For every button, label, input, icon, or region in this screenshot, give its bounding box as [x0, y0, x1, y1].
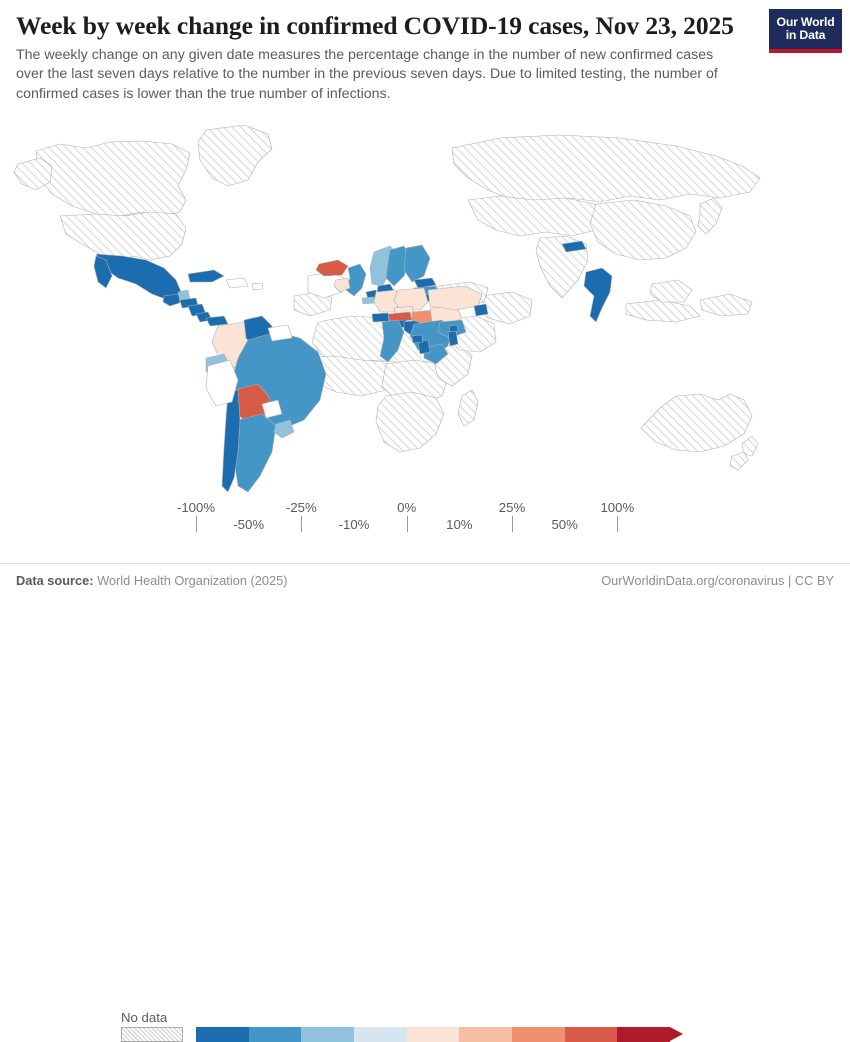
region-canada[interactable] — [36, 141, 190, 216]
legend-segment-3[interactable] — [354, 1027, 407, 1042]
region-central-asia[interactable] — [468, 196, 606, 236]
data-source-label: Data source: — [16, 573, 94, 588]
region-united-kingdom[interactable] — [346, 264, 366, 296]
region-puerto-rico[interactable] — [252, 283, 263, 290]
legend-segment-5[interactable] — [459, 1027, 512, 1042]
region-china[interactable] — [590, 200, 696, 260]
our-world-in-data-logo[interactable]: Our World in Data — [769, 9, 842, 53]
legend-tick-label-7: 50% — [551, 517, 577, 532]
legend-tick-label-1: -50% — [233, 517, 264, 532]
region-new-guinea[interactable] — [700, 294, 752, 316]
data-source-text: Data source: World Health Organization (… — [16, 573, 287, 588]
logo-line-2: in Data — [786, 29, 826, 42]
legend-tick-label-4: 0% — [397, 500, 416, 515]
map-color-legend[interactable]: No data -100%-50%-25%-10%0%10%25%50%100% — [0, 495, 850, 555]
legend-segment-6[interactable] — [512, 1027, 565, 1042]
logo-line-1: Our World — [776, 16, 834, 29]
legend-no-data-label: No data — [121, 1010, 167, 1025]
legend-tick-label-0: -100% — [177, 500, 215, 515]
region-israel[interactable] — [448, 331, 458, 346]
legend-no-data-swatch[interactable] — [121, 1027, 183, 1042]
legend-tick-label-6: 25% — [499, 500, 525, 515]
region-guyana-suriname[interactable] — [268, 325, 292, 341]
data-source-value: World Health Organization (2025) — [94, 573, 288, 588]
region-new-zealand-south[interactable] — [730, 452, 748, 470]
legend-segment-0[interactable] — [196, 1027, 249, 1042]
legend-tick-label-3: -10% — [339, 517, 370, 532]
legend-tick-label-2: -25% — [286, 500, 317, 515]
chart-subtitle: The weekly change on any given date meas… — [16, 46, 741, 104]
region-russia[interactable] — [452, 135, 760, 204]
legend-color-bar[interactable] — [196, 1027, 670, 1042]
footer-link[interactable]: OurWorldinData.org/coronavirus | CC BY — [601, 573, 834, 588]
legend-segment-1[interactable] — [249, 1027, 302, 1042]
chart-footer: Data source: World Health Organization (… — [0, 563, 850, 594]
region-borneo[interactable] — [650, 280, 692, 302]
legend-arrow-icon — [670, 1027, 683, 1041]
legend-segment-4[interactable] — [407, 1027, 460, 1042]
page-title: Week by week change in confirmed COVID-1… — [16, 11, 736, 40]
region-switzerland[interactable] — [372, 313, 389, 322]
region-finland[interactable] — [404, 245, 430, 282]
region-indonesia[interactable] — [626, 300, 700, 322]
legend-segment-2[interactable] — [301, 1027, 354, 1042]
region-madagascar[interactable] — [458, 390, 478, 426]
legend-tick-label-5: 10% — [446, 517, 472, 532]
legend-segment-7[interactable] — [565, 1027, 618, 1042]
legend-tick-line-8 — [617, 516, 618, 532]
region-japan[interactable] — [698, 198, 722, 234]
legend-segment-8[interactable] — [617, 1027, 670, 1042]
region-united-states[interactable] — [60, 212, 186, 260]
region-thailand[interactable] — [584, 268, 612, 322]
region-southern-africa[interactable] — [376, 392, 444, 452]
legend-tick-label-8: 100% — [600, 500, 634, 515]
region-australia[interactable] — [641, 394, 752, 452]
legend-tick-line-6 — [512, 516, 513, 532]
region-armenia[interactable] — [474, 304, 488, 316]
region-iceland[interactable] — [316, 260, 348, 276]
legend-tick-line-0 — [196, 516, 197, 532]
region-lebanon[interactable] — [449, 325, 458, 332]
region-greenland[interactable] — [198, 125, 272, 186]
region-panama[interactable] — [206, 316, 228, 326]
world-choropleth-map[interactable] — [0, 108, 850, 493]
legend-tick-line-2 — [301, 516, 302, 532]
legend-tick-line-4 — [407, 516, 408, 532]
region-belgium[interactable] — [362, 297, 375, 304]
region-montenegro[interactable] — [412, 335, 423, 343]
region-hispaniola[interactable] — [226, 278, 248, 288]
world-map-svg[interactable] — [0, 108, 850, 493]
region-cuba[interactable] — [188, 270, 224, 282]
